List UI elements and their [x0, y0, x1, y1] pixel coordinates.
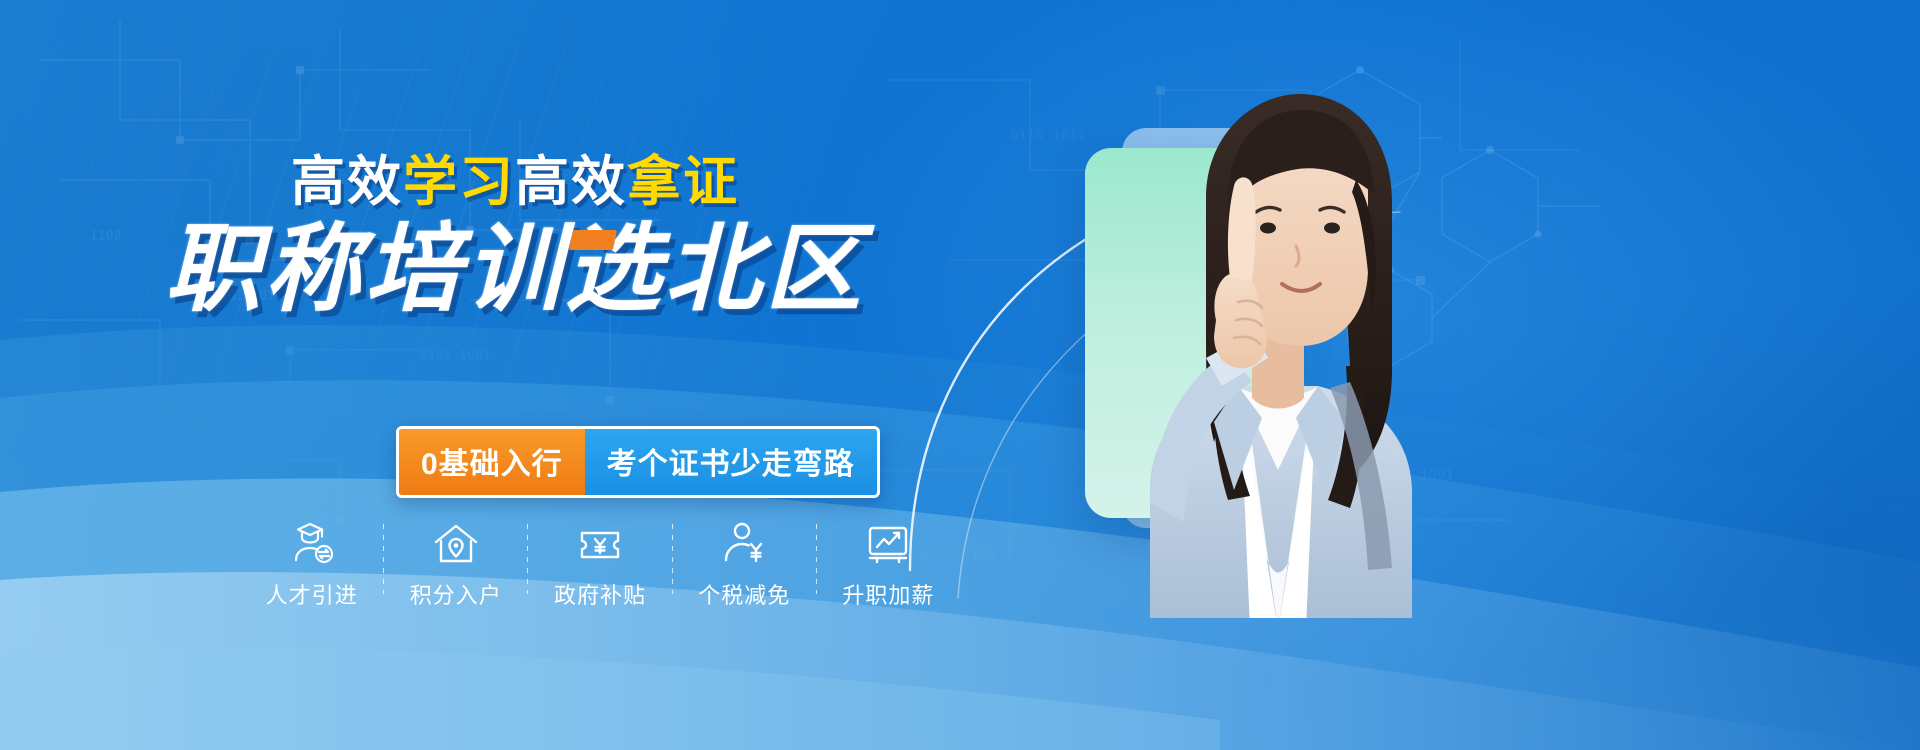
feature-label: 升职加薪 — [842, 578, 934, 610]
presenter-model-photo — [1000, 70, 1460, 630]
badge-left-label[interactable]: 0基础入行 — [399, 429, 585, 495]
feature-item-government-subsidy[interactable]: 政府补贴 — [528, 520, 671, 610]
banner-copy-block: 高效学习高效拿证 职称培训选北区 0基础入行 考个证书少走弯路 人才引进 — [0, 0, 1030, 750]
subtitle-highlight-2: 拿证 — [627, 152, 739, 212]
banner-title: 职称培训选北区 — [0, 222, 1030, 318]
title-accent-char-wrap: 选 — [565, 222, 665, 318]
feature-label: 政府补贴 — [554, 578, 646, 610]
feature-item-promotion-raise[interactable]: 升职加薪 — [817, 520, 960, 610]
feature-label: 人才引进 — [266, 578, 358, 610]
person-yuan-icon — [720, 520, 768, 568]
subtitle-highlight-1: 学习 — [403, 152, 515, 212]
feature-label: 积分入户 — [410, 578, 502, 610]
subtitle-part-1: 高效 — [291, 152, 403, 212]
feature-item-tax-reduction[interactable]: 个税减免 — [673, 520, 816, 610]
title-after-accent: 北区 — [665, 216, 865, 323]
subtitle-part-2: 高效 — [515, 152, 627, 212]
title-before-accent: 职称培训 — [165, 216, 565, 323]
feature-label: 个税减免 — [698, 578, 790, 610]
yuan-ticket-icon — [576, 520, 624, 568]
promo-badge[interactable]: 0基础入行 考个证书少走弯路 — [396, 426, 880, 498]
title-orange-accent-stroke — [569, 230, 617, 250]
feature-item-talent-introduction[interactable]: 人才引进 — [240, 520, 383, 610]
feature-item-points-residency[interactable]: 积分入户 — [384, 520, 527, 610]
promo-banner: 1011 01100101 1001 11000110 1101 239 011… — [0, 0, 1920, 750]
banner-subtitle: 高效学习高效拿证 — [0, 155, 1030, 209]
feature-list: 人才引进 积分入户 — [240, 520, 960, 610]
badge-right-label[interactable]: 考个证书少走弯路 — [585, 429, 877, 495]
house-pin-icon — [432, 520, 480, 568]
rising-chart-icon — [864, 520, 912, 568]
graduate-person-icon — [288, 520, 336, 568]
